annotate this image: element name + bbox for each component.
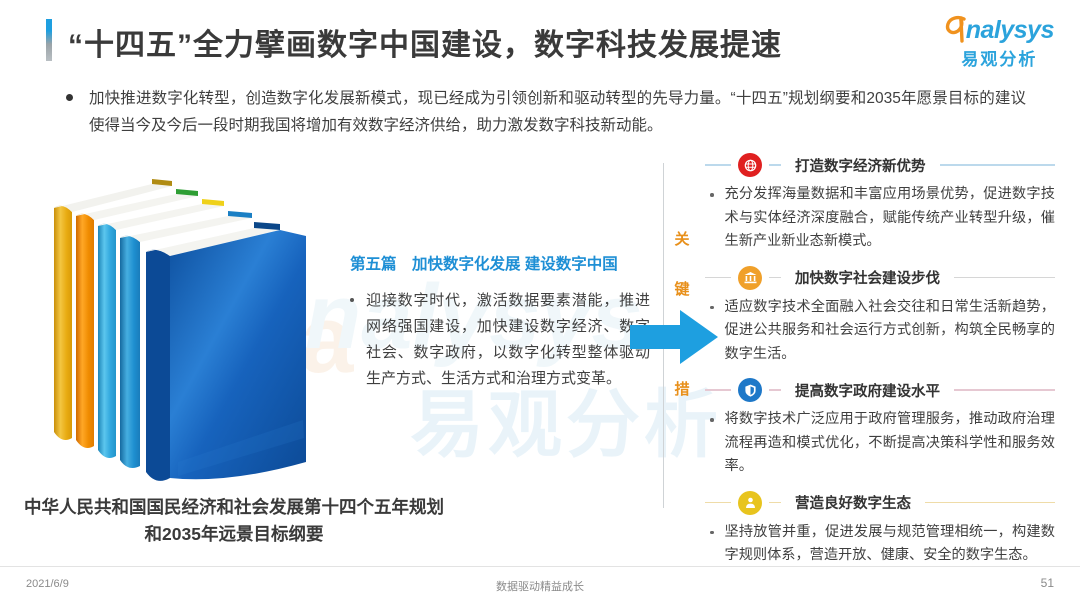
plan-body: 迎接数字时代，激活数据要素潜能，推进网络强国建设，加快建设数字经济、数字社会、数…: [350, 288, 650, 392]
section-rule-mid: [769, 164, 781, 166]
key-measures-sections: 打造数字经济新优势 充分发挥海量数据和丰富应用场景优势，促进数字技术与实体经济深…: [705, 150, 1055, 577]
section-body: 适应数字技术全面融入社会交往和日常生活新趋势，促进公共服务和社会运行方式创新，构…: [705, 296, 1055, 367]
footer-page-number: 51: [1041, 576, 1054, 590]
section-header: 营造良好数字生态: [705, 488, 1055, 518]
section-rule-left: [705, 164, 731, 166]
globe-badge-icon: [738, 153, 762, 177]
bullet-dot-icon: [710, 306, 714, 310]
slide-root: a nalysys 易观分析 “十四五”全力擘画数字中国建设，数字科技发展提速 …: [0, 0, 1080, 608]
section-digital-government: 提高数字政府建设水平 将数字技术广泛应用于政府管理服务，推动政府治理流程再造和模…: [705, 375, 1055, 479]
section-title: 加快数字社会建设步伐: [788, 267, 947, 288]
section-text: 充分发挥海量数据和丰富应用场景优势，促进数字技术与实体经济深度融合，赋能传统产业…: [725, 183, 1056, 254]
logo-en-text: nalysys: [966, 17, 1054, 43]
bullet-dot-icon: [710, 418, 714, 422]
plan-text: 迎接数字时代，激活数据要素潜能，推进网络强国建设，加快建设数字经济、数字社会、数…: [366, 288, 650, 392]
section-text: 将数字技术广泛应用于政府管理服务，推动政府治理流程再造和模式优化，不断提高决策科…: [725, 408, 1056, 479]
bullet-dot-icon: [350, 298, 354, 302]
section-header: 打造数字经济新优势: [705, 150, 1055, 180]
section-rule-left: [705, 389, 731, 391]
section-digital-ecosystem: 营造良好数字生态 坚持放管并重，促进发展与规范管理相统一，构建数字规则体系，营造…: [705, 488, 1055, 568]
bullet-dot-icon: [710, 193, 714, 197]
logo-wordmark: nalysys: [945, 13, 1054, 43]
footer-tagline: 数据驱动精益成长: [0, 578, 1080, 594]
title-accent-bar: [46, 19, 52, 61]
section-rule-mid: [769, 502, 781, 504]
section-text: 适应数字技术全面融入社会交往和日常生活新趋势，促进公共服务和社会运行方式创新，构…: [725, 296, 1056, 367]
bullet-dot-icon: [710, 531, 714, 535]
footer-divider: [0, 566, 1080, 567]
section-title: 提高数字政府建设水平: [788, 380, 947, 401]
section-digital-society: 加快数字社会建设步伐 适应数字技术全面融入社会交往和日常生活新趋势，促进公共服务…: [705, 263, 1055, 367]
section-rule-mid: [769, 389, 781, 391]
section-body: 坚持放管并重，促进发展与规范管理相统一，构建数字规则体系，营造开放、健康、安全的…: [705, 521, 1055, 568]
logo-cn-text: 易观分析: [945, 45, 1054, 70]
section-header: 提高数字政府建设水平: [705, 375, 1055, 405]
section-rule-right: [954, 389, 1055, 391]
plan-title: 第五篇 加快数字化发展 建设数字中国: [350, 252, 650, 274]
books-illustration: [48, 162, 318, 492]
section-title: 打造数字经济新优势: [788, 155, 933, 176]
section-rule-right: [940, 164, 1056, 166]
analysys-logo: nalysys 易观分析: [945, 13, 1054, 70]
plan-excerpt: 第五篇 加快数字化发展 建设数字中国 迎接数字时代，激活数据要素潜能，推进网络强…: [350, 252, 650, 392]
shield-icon: [738, 378, 762, 402]
section-digital-economy: 打造数字经济新优势 充分发挥海量数据和丰富应用场景优势，促进数字技术与实体经济深…: [705, 150, 1055, 254]
intro-text: 加快推进数字化转型，创造数字化发展新模式，现已经成为引领创新和驱动转型的先导力量…: [89, 85, 1026, 139]
bank-building-icon: [738, 266, 762, 290]
section-text: 坚持放管并重，促进发展与规范管理相统一，构建数字规则体系，营造开放、健康、安全的…: [725, 521, 1056, 568]
section-rule-right: [925, 502, 1055, 504]
intro-bullet: 加快推进数字化转型，创造数字化发展新模式，现已经成为引领创新和驱动转型的先导力量…: [66, 85, 1026, 139]
section-title: 营造良好数字生态: [788, 492, 918, 513]
bullet-dot-icon: [66, 94, 73, 101]
logo-a-swirl-icon: [945, 15, 968, 43]
section-rule-left: [705, 502, 731, 504]
page-title: “十四五”全力擘画数字中国建设，数字科技发展提速: [68, 20, 782, 64]
person-icon: [738, 491, 762, 515]
section-body: 将数字技术广泛应用于政府管理服务，推动政府治理流程再造和模式优化，不断提高决策科…: [705, 408, 1055, 479]
section-rule-right: [954, 277, 1055, 279]
section-rule-left: [705, 277, 731, 279]
section-body: 充分发挥海量数据和丰富应用场景优势，促进数字技术与实体经济深度融合，赋能传统产业…: [705, 183, 1055, 254]
section-rule-mid: [769, 277, 781, 279]
books-caption: 中华人民共和国国民经济和社会发展第十四个五年规划和2035年远景目标纲要: [24, 494, 444, 548]
section-header: 加快数字社会建设步伐: [705, 263, 1055, 293]
